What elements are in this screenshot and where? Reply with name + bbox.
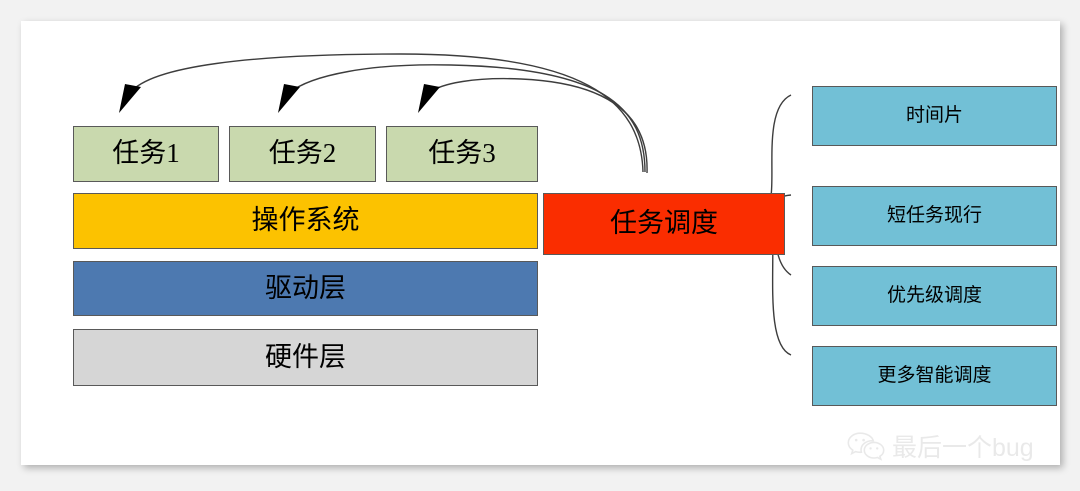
option-box-priority[interactable]: 优先级调度 <box>812 266 1057 326</box>
option-box-time-slice[interactable]: 时间片 <box>812 86 1057 146</box>
option-box-short-task-first-label: 短任务现行 <box>887 206 982 227</box>
os-layer-box[interactable]: 操作系统 <box>73 193 538 249</box>
watermark: 最后一个bug <box>847 425 1052 465</box>
option-box-short-task-first[interactable]: 短任务现行 <box>812 186 1057 246</box>
watermark-text: 最后一个bug <box>892 428 1034 464</box>
task-box-2[interactable]: 任务2 <box>229 126 376 182</box>
os-layer-label: 操作系统 <box>252 206 360 236</box>
hardware-layer-label: 硬件层 <box>265 343 346 373</box>
arrow-to-task2-head <box>278 84 300 113</box>
option-box-more-smart-label: 更多智能调度 <box>877 366 991 387</box>
task-box-2-label: 任务2 <box>269 139 337 169</box>
option-box-more-smart[interactable]: 更多智能调度 <box>812 346 1057 406</box>
link-to-option-1 <box>764 95 791 207</box>
arrow-to-task1-head <box>119 84 141 113</box>
driver-layer-label: 驱动层 <box>265 274 346 304</box>
hardware-layer-box[interactable]: 硬件层 <box>73 329 538 386</box>
scheduler-label: 任务调度 <box>610 209 718 239</box>
task-box-1[interactable]: 任务1 <box>73 126 219 182</box>
diagram-page: 任务1 任务2 任务3 操作系统 驱动层 硬件层 任务调度 时间片 短任务现行 <box>21 21 1060 465</box>
arrow-to-task3-head <box>418 84 440 113</box>
wechat-icon <box>847 431 885 461</box>
task-box-3[interactable]: 任务3 <box>386 126 538 182</box>
driver-layer-box[interactable]: 驱动层 <box>73 261 538 316</box>
scheduler-box[interactable]: 任务调度 <box>543 193 785 255</box>
task-box-3-label: 任务3 <box>428 139 496 169</box>
option-box-time-slice-label: 时间片 <box>906 106 963 127</box>
option-box-priority-label: 优先级调度 <box>887 286 982 307</box>
task-box-1-label: 任务1 <box>112 139 180 169</box>
screenshot-canvas: 任务1 任务2 任务3 操作系统 驱动层 硬件层 任务调度 时间片 短任务现行 <box>0 0 1080 491</box>
